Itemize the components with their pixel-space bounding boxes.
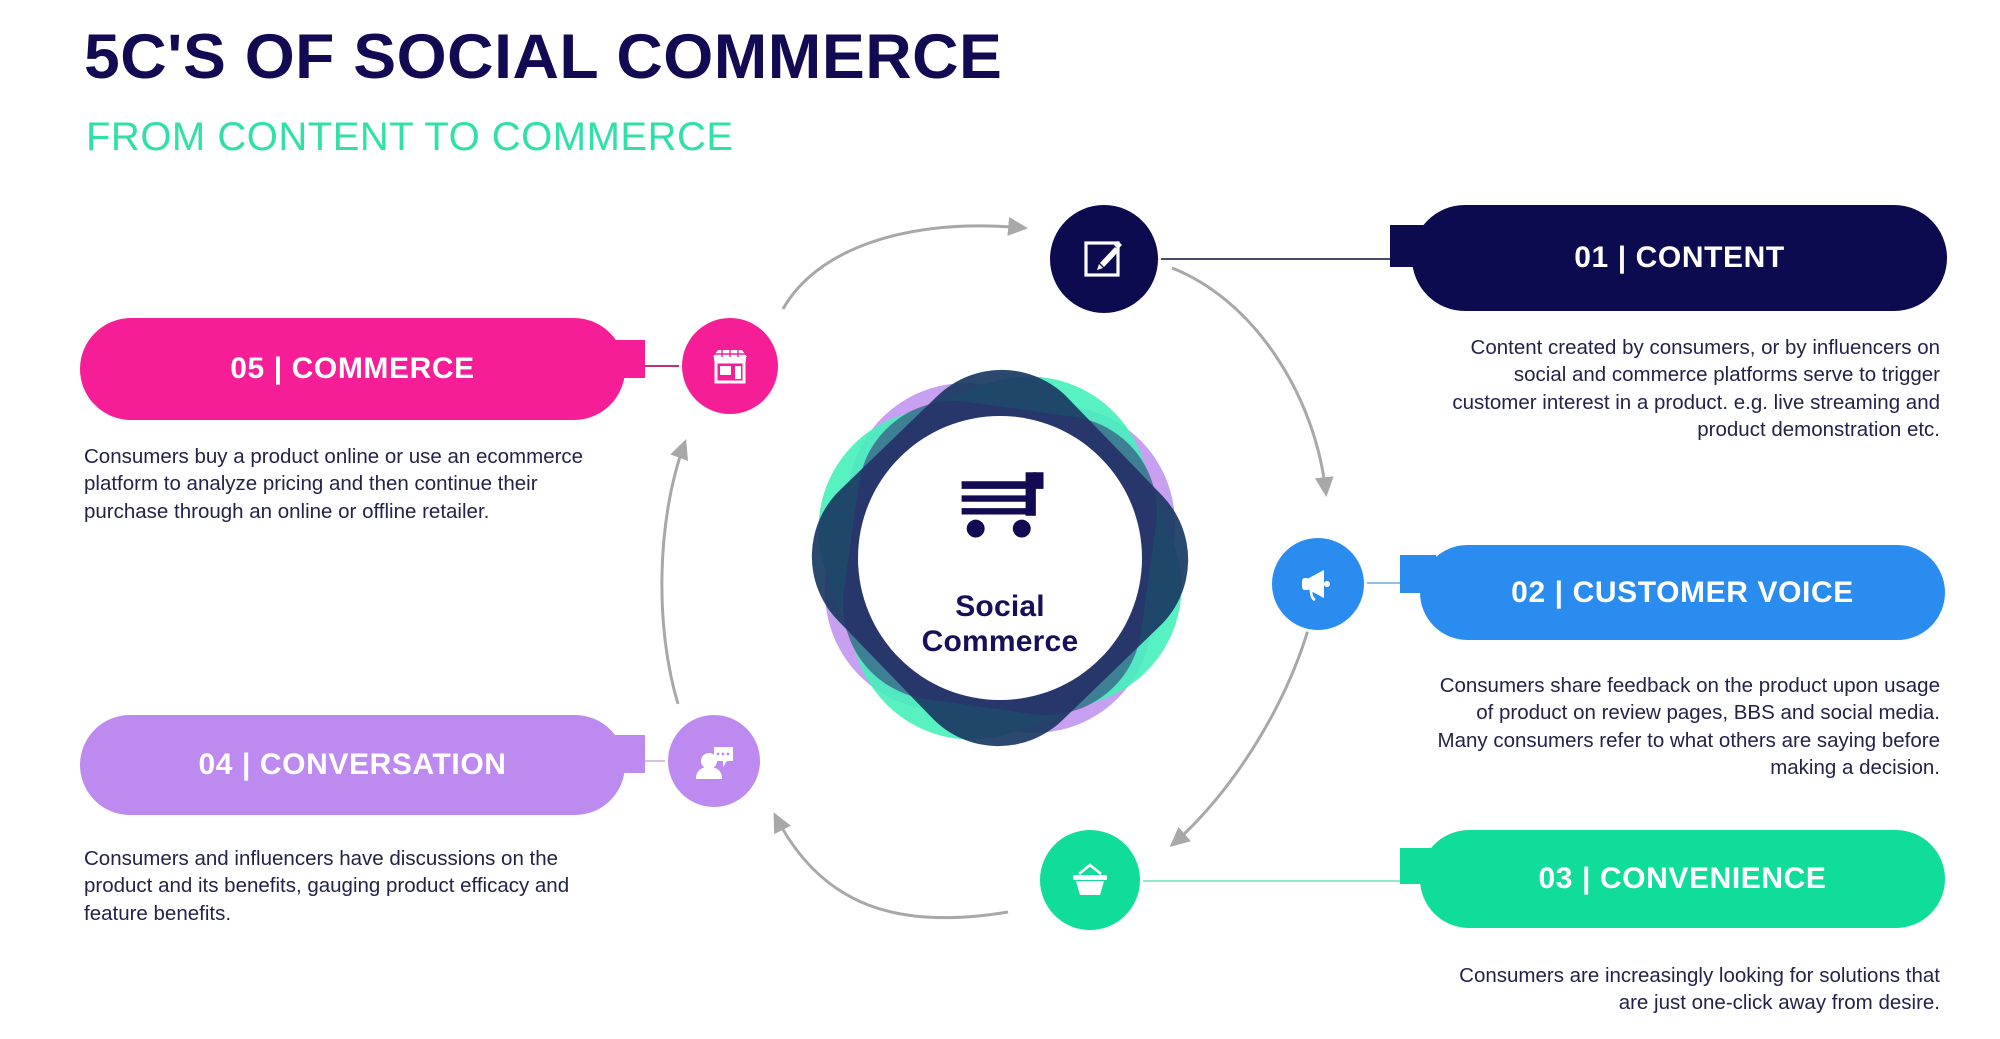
pill-01-label: 01 | CONTENT	[1412, 241, 1947, 275]
pill-05-notch	[609, 340, 645, 378]
page-title: 5C'S OF SOCIAL COMMERCE	[84, 26, 1002, 89]
connector-line-03	[1118, 880, 1428, 882]
center-label-line-1: Social	[760, 590, 1240, 625]
icon-circle-01[interactable]	[1050, 205, 1158, 313]
arrow-05-to-01	[783, 226, 1025, 309]
icon-circle-02[interactable]	[1272, 538, 1364, 630]
center-label-line-2: Commerce	[760, 625, 1240, 660]
pill-05[interactable]: 05 | COMMERCE	[80, 318, 625, 420]
storefront-icon	[705, 341, 755, 391]
description-01: Content created by consumers, or by infl…	[1430, 334, 1940, 443]
person-speech-bubble-icon	[690, 737, 738, 785]
megaphone-icon	[1294, 560, 1342, 608]
icon-circle-03[interactable]	[1040, 830, 1140, 930]
icon-circle-05[interactable]	[682, 318, 778, 414]
pill-03[interactable]: 03 | CONVENIENCE	[1420, 830, 1945, 928]
arrow-04-to-05	[662, 442, 685, 704]
pill-04-notch	[609, 735, 645, 773]
pill-03-label: 03 | CONVENIENCE	[1420, 862, 1945, 896]
compose-pencil-icon	[1078, 233, 1130, 285]
pill-05-label: 05 | COMMERCE	[80, 352, 625, 386]
center-graphic: Social Commerce	[760, 318, 1240, 798]
pill-04[interactable]: 04 | CONVERSATION	[80, 715, 625, 815]
page-subtitle: FROM CONTENT TO COMMERCE	[86, 117, 734, 157]
pill-04-label: 04 | CONVERSATION	[80, 748, 625, 782]
icon-circle-04[interactable]	[668, 715, 760, 807]
pill-02-notch	[1400, 555, 1436, 593]
pill-01[interactable]: 01 | CONTENT	[1412, 205, 1947, 311]
description-04: Consumers and influencers have discussio…	[84, 845, 624, 927]
shopping-basket-icon	[1065, 855, 1115, 905]
infographic-canvas: 5C'S OF SOCIAL COMMERCE FROM CONTENT TO …	[0, 0, 2000, 1039]
pill-01-notch	[1390, 225, 1430, 267]
description-03: Consumers are increasingly looking for s…	[1430, 962, 1940, 1017]
arrow-03-to-04	[775, 815, 1008, 918]
pill-03-notch	[1400, 848, 1436, 884]
center-label: Social Commerce	[760, 590, 1240, 660]
pill-02-label: 02 | CUSTOMER VOICE	[1420, 576, 1945, 610]
pill-02[interactable]: 02 | CUSTOMER VOICE	[1420, 545, 1945, 640]
description-05: Consumers buy a product online or use an…	[84, 443, 604, 525]
description-02: Consumers share feedback on the product …	[1430, 672, 1940, 781]
